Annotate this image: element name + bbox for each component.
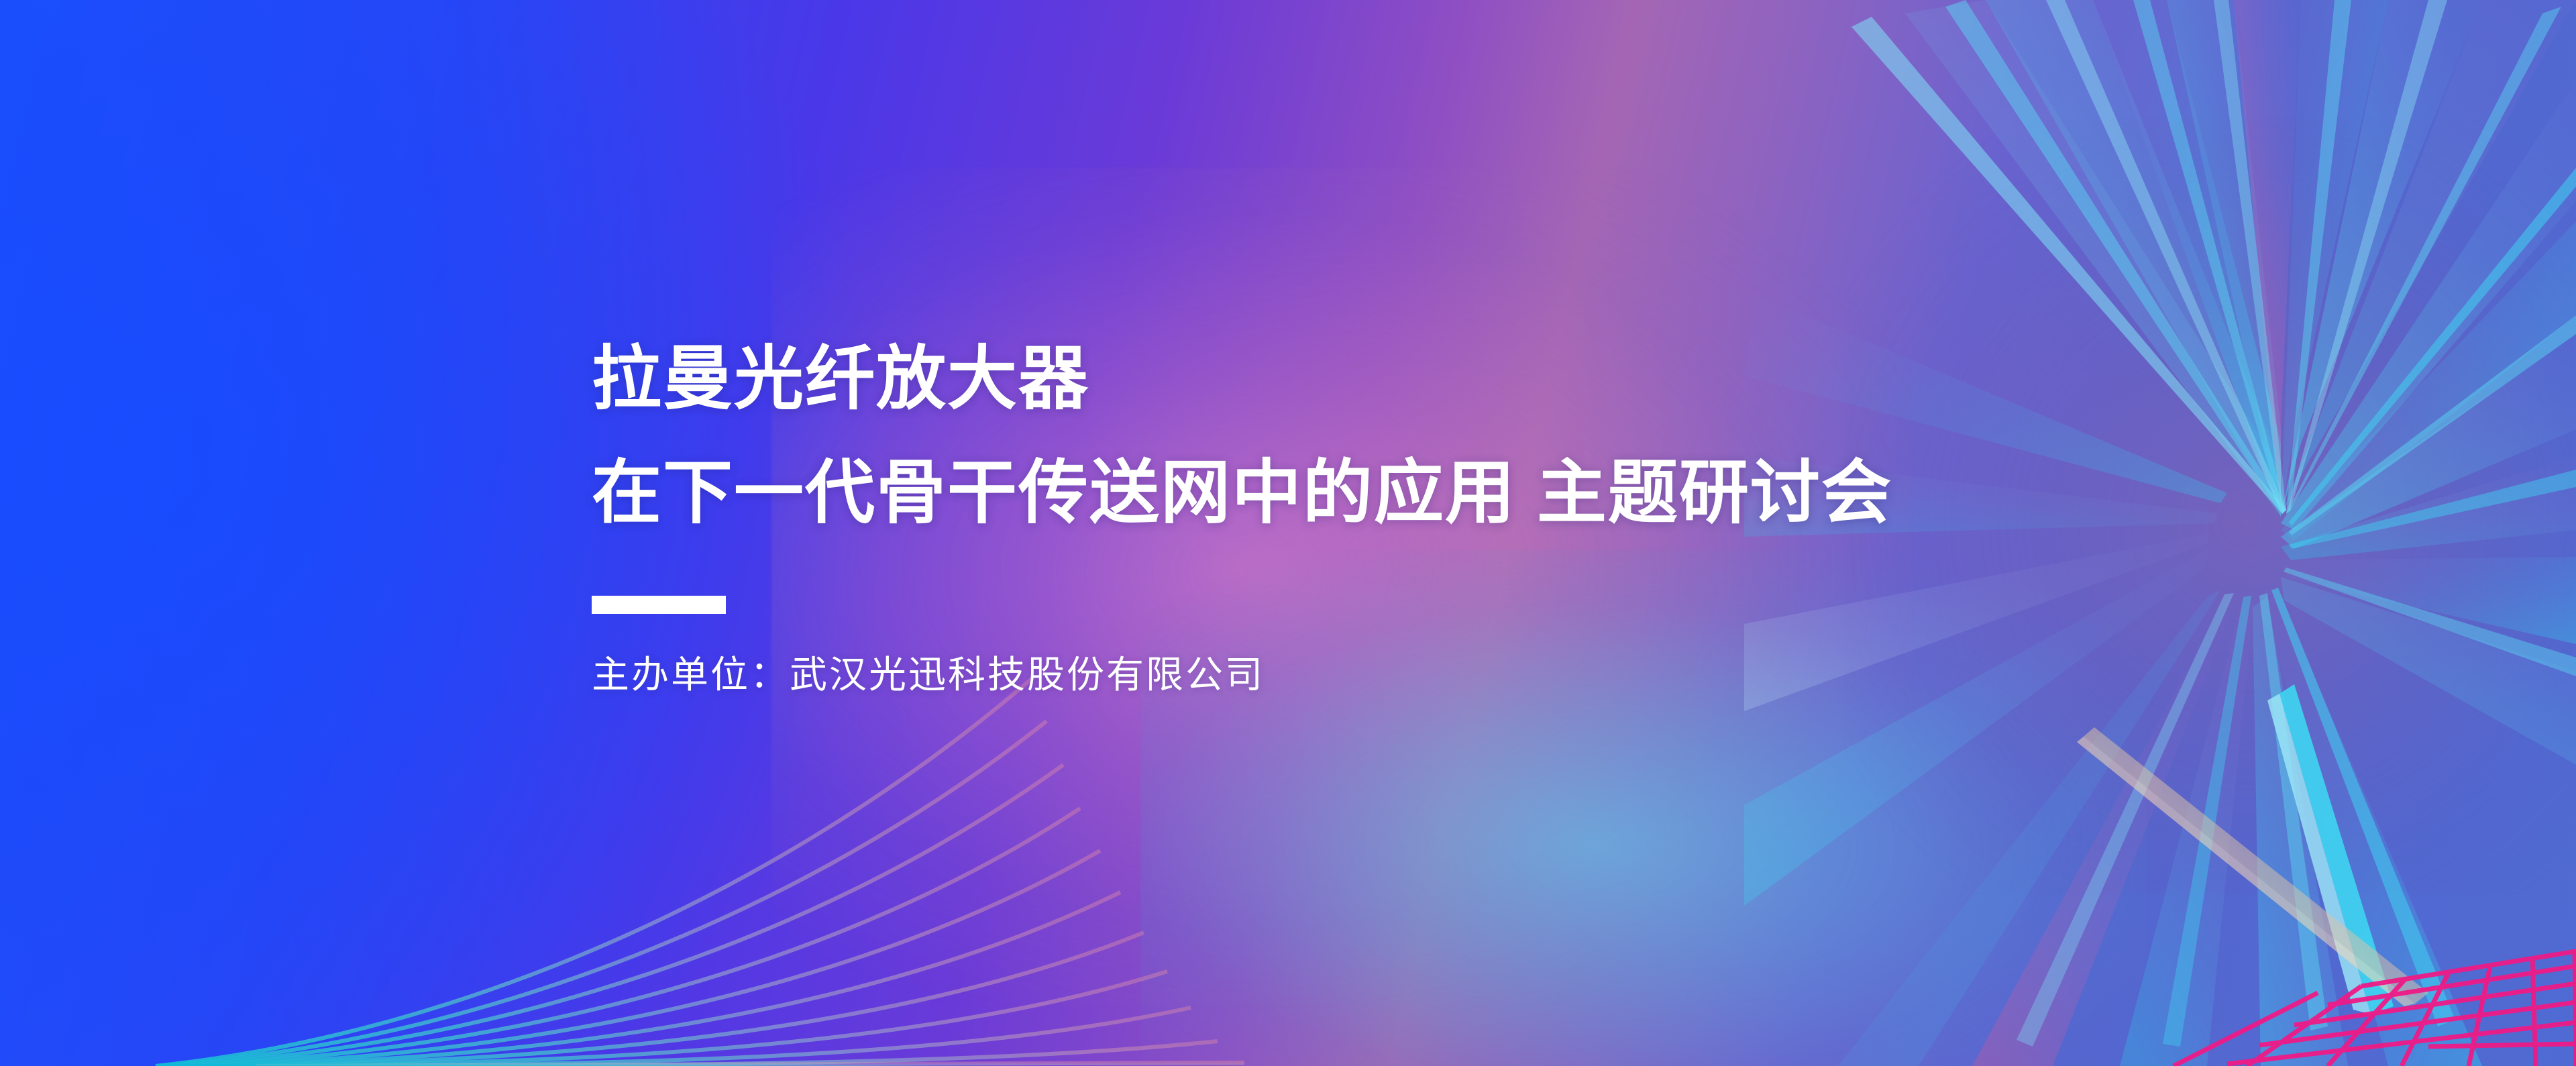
title-line-1: 拉曼光纤放大器	[592, 322, 2202, 436]
event-banner: 拉曼光纤放大器 在下一代骨干传送网中的应用 主题研讨会 主办单位：武汉光迅科技股…	[0, 0, 2576, 1066]
banner-subtitle: 主办单位：武汉光迅科技股份有限公司	[592, 651, 2202, 698]
title-line-2: 在下一代骨干传送网中的应用 主题研讨会	[592, 436, 2202, 550]
banner-content: 拉曼光纤放大器 在下一代骨干传送网中的应用 主题研讨会 主办单位：武汉光迅科技股…	[592, 322, 2202, 698]
banner-title: 拉曼光纤放大器 在下一代骨干传送网中的应用 主题研讨会	[592, 322, 2202, 550]
title-divider	[592, 596, 726, 614]
